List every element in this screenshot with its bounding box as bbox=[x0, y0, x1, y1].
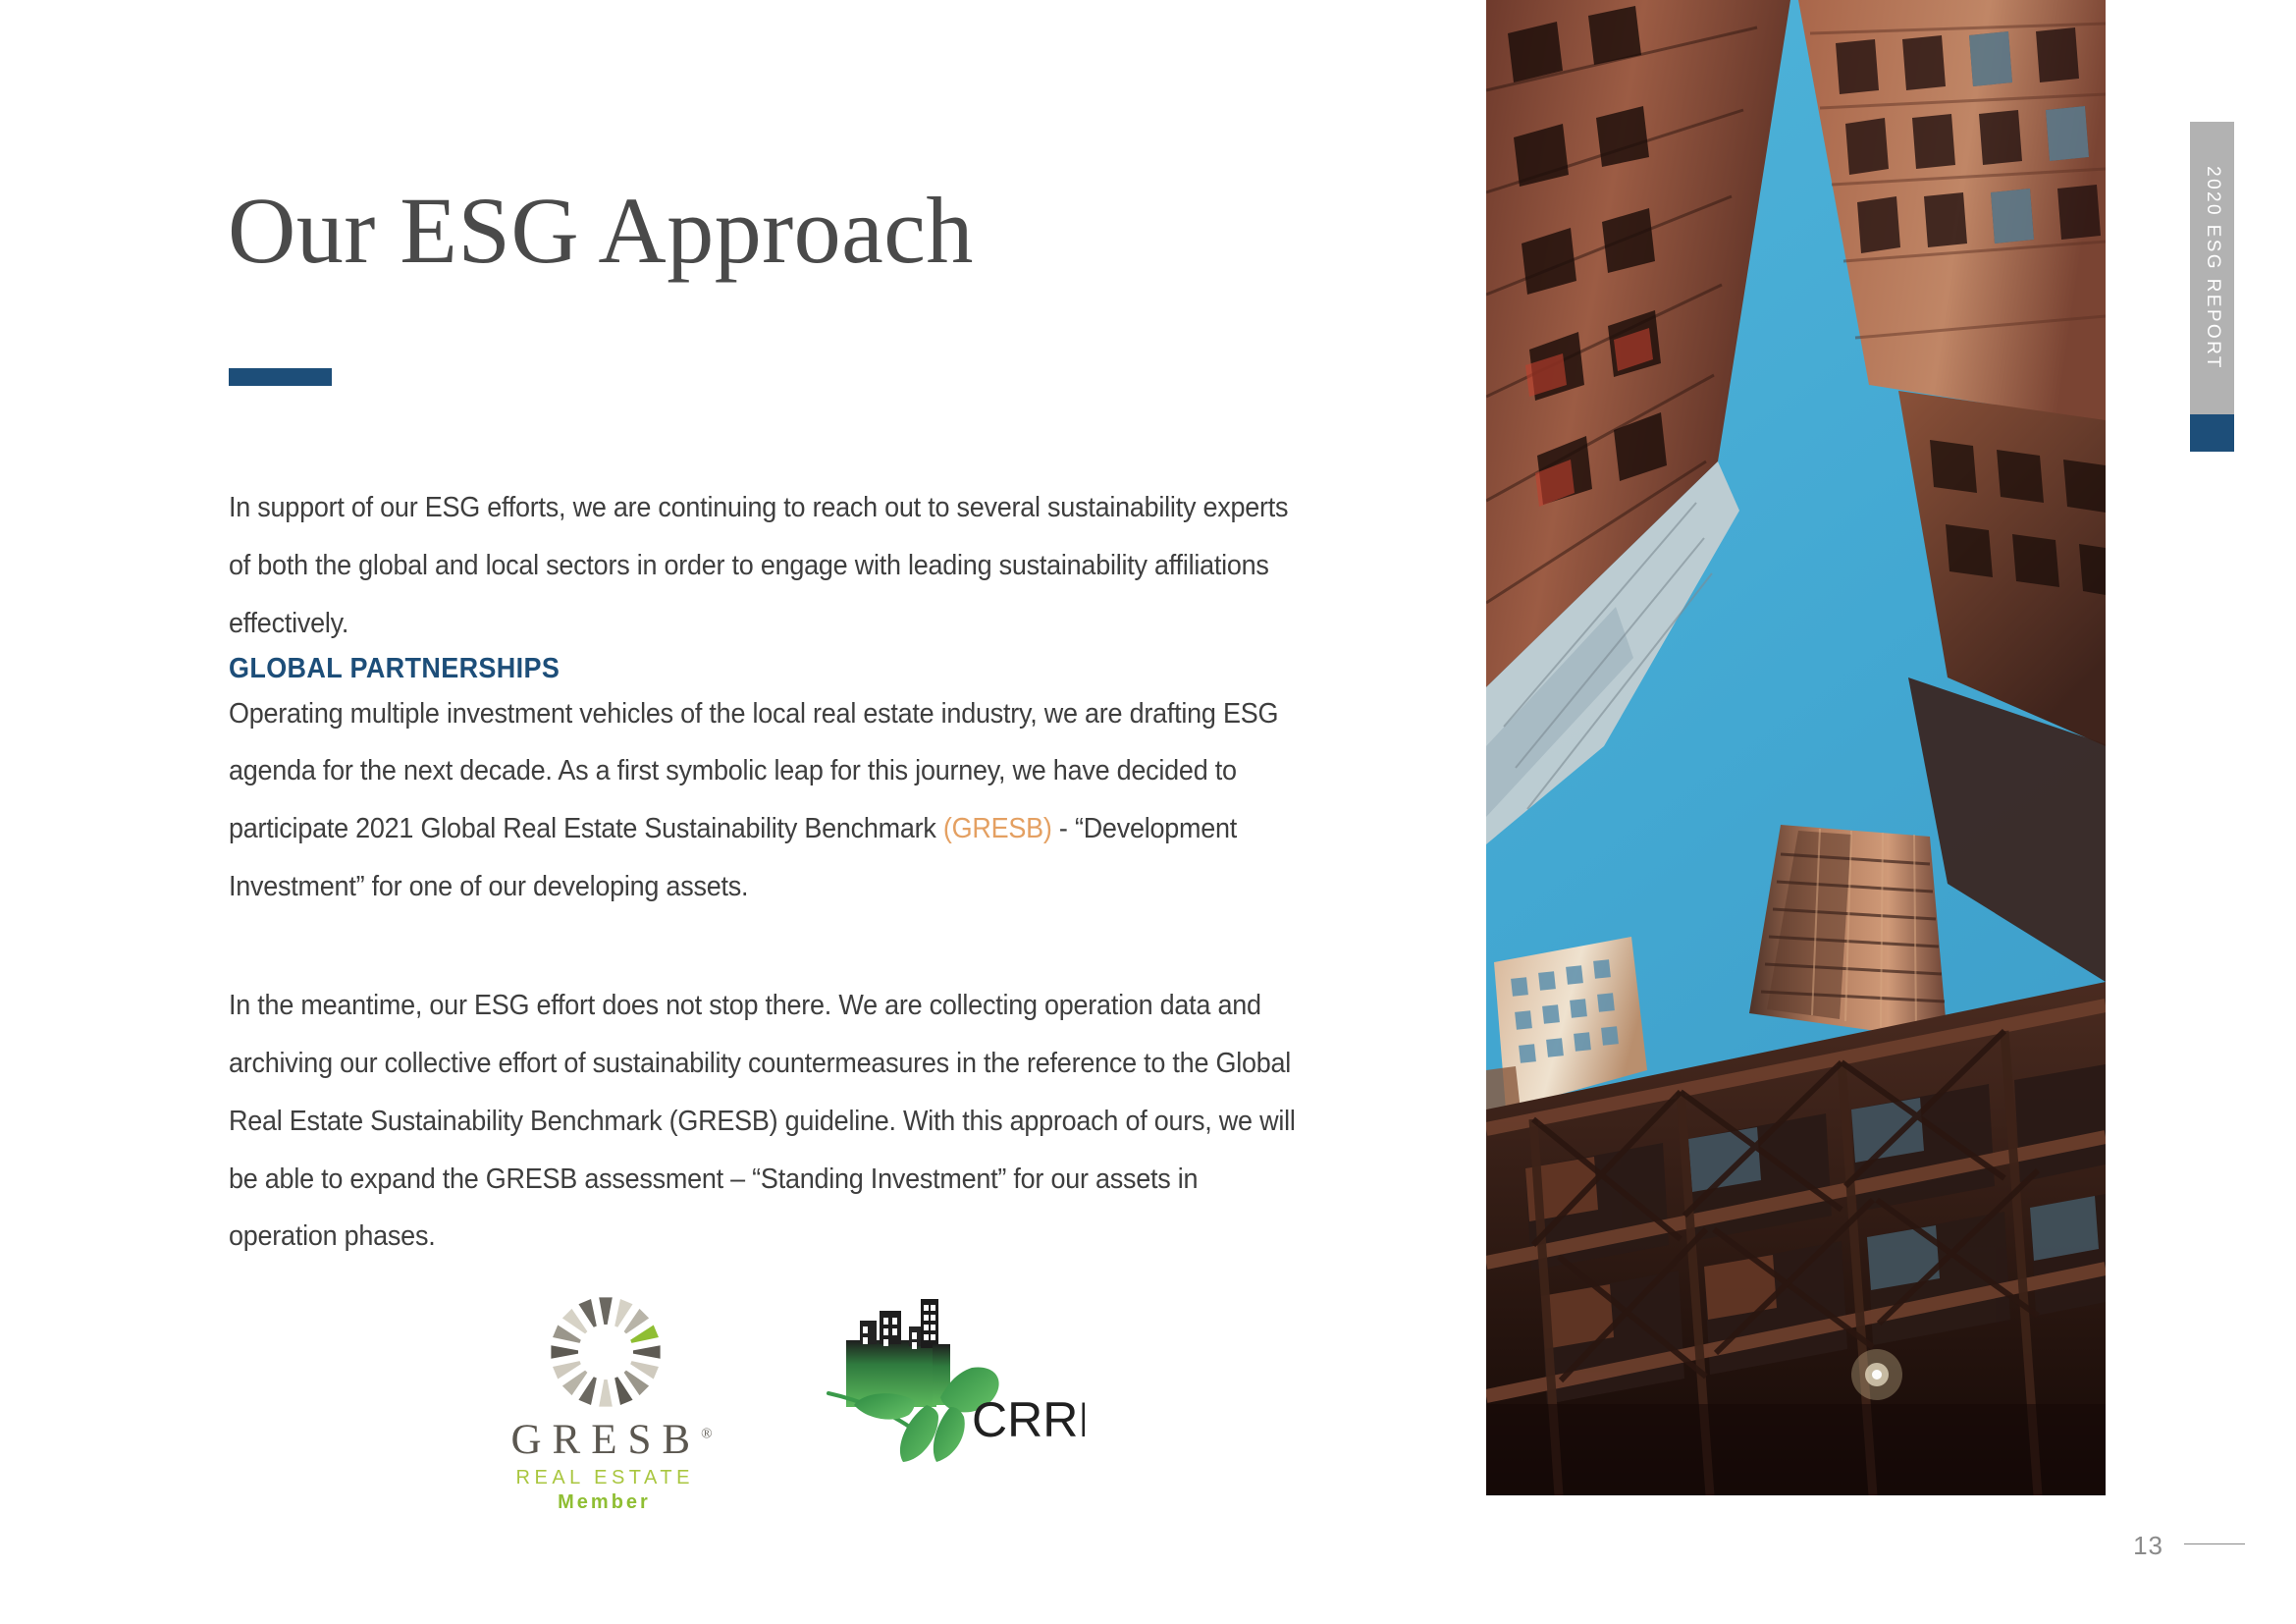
intro-paragraph: In support of our ESG efforts, we are co… bbox=[229, 479, 1302, 653]
page-title: Our ESG Approach bbox=[228, 182, 974, 281]
gresb-ring-segment bbox=[551, 1345, 578, 1359]
title-accent-bar bbox=[229, 368, 332, 386]
side-tab: 2020 ESG REPORT bbox=[2190, 122, 2234, 414]
gresb-ring-segment bbox=[599, 1297, 613, 1325]
gresb-ring-segment bbox=[562, 1309, 588, 1334]
gresb-ring-segment bbox=[562, 1371, 588, 1396]
page-number-rule bbox=[2184, 1543, 2245, 1544]
gresb-wordmark-text: GRESB bbox=[510, 1417, 701, 1463]
crrem-logo: CRREM bbox=[825, 1291, 1085, 1468]
partner-logos: GRESB® REAL ESTATE Member bbox=[481, 1281, 1109, 1522]
gresb-subtitle-real-estate: REAL ESTATE bbox=[491, 1468, 715, 1488]
registered-trademark-icon: ® bbox=[701, 1427, 712, 1442]
body-text-column: In support of our ESG efforts, we are co… bbox=[229, 479, 1382, 1266]
crrem-wordmark: CRREM bbox=[972, 1392, 1085, 1447]
gresb-logo: GRESB® REAL ESTATE Member bbox=[491, 1281, 721, 1517]
paragraph-global-partnerships: Operating multiple investment vehicles o… bbox=[229, 685, 1302, 916]
page-number: 13 bbox=[2133, 1531, 2163, 1561]
crrem-logo-icon: CRREM bbox=[825, 1291, 1085, 1468]
section-heading-global-partnerships: GLOBAL PARTNERSHIPS bbox=[229, 653, 1302, 685]
gresb-ring-segment bbox=[624, 1371, 650, 1396]
gresb-ring-segment bbox=[624, 1309, 650, 1334]
gresb-ring-icon bbox=[547, 1293, 665, 1411]
hero-photo bbox=[1486, 0, 2106, 1495]
paragraph-ongoing-effort: In the meantime, our ESG effort does not… bbox=[229, 977, 1302, 1266]
gresb-highlight: (GRESB) bbox=[943, 813, 1052, 844]
side-tab-label: 2020 ESG REPORT bbox=[2202, 166, 2223, 370]
gresb-ring-segment bbox=[633, 1345, 661, 1359]
skyline-shape bbox=[846, 1299, 950, 1407]
gresb-ring-segment bbox=[599, 1380, 613, 1407]
side-tab-accent-block bbox=[2190, 414, 2234, 452]
hero-photo-illustration bbox=[1486, 0, 2106, 1495]
gresb-wordmark: GRESB® bbox=[491, 1419, 721, 1461]
gresb-subtitle-member: Member bbox=[491, 1492, 715, 1512]
